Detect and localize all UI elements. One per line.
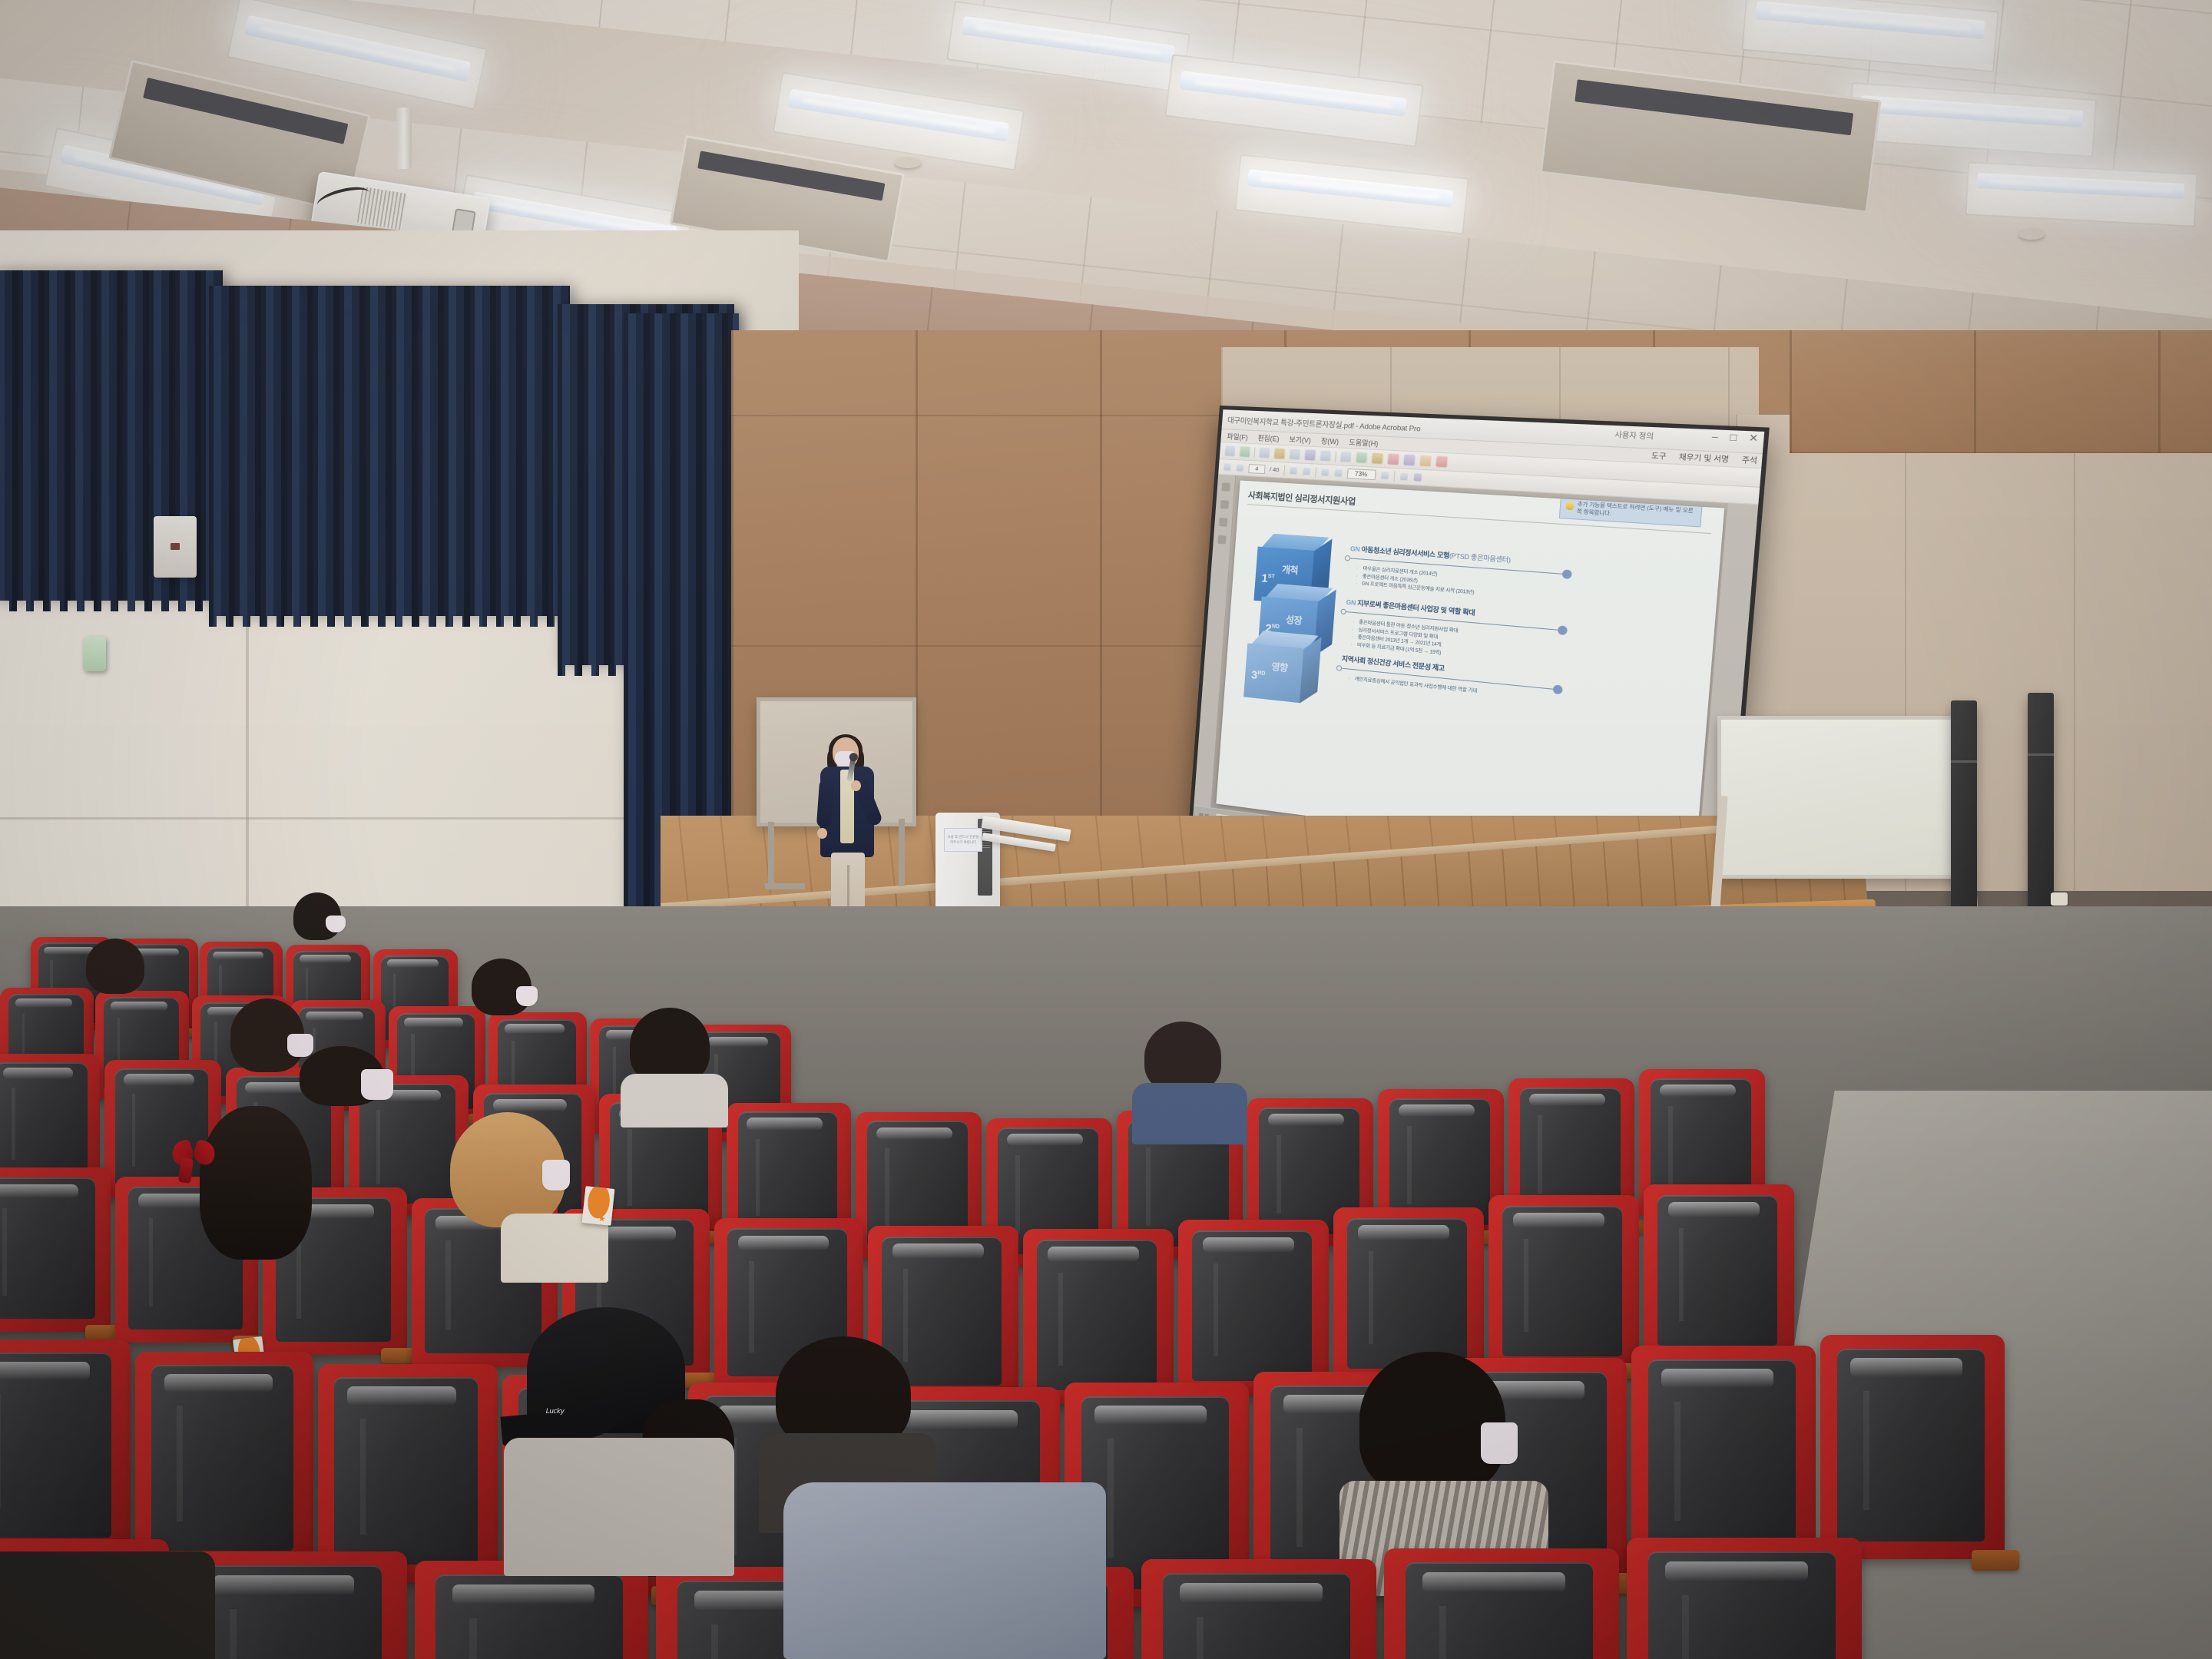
torso bbox=[504, 1438, 734, 1576]
open-file-icon[interactable] bbox=[1224, 445, 1237, 457]
audience-member bbox=[469, 959, 545, 1043]
fit-page-icon[interactable] bbox=[1412, 472, 1422, 482]
torso bbox=[1132, 1083, 1247, 1144]
seat[interactable] bbox=[1820, 1335, 2005, 1559]
menu-window[interactable]: 창(W) bbox=[1321, 435, 1339, 446]
emergency-light bbox=[83, 636, 106, 671]
bookmarks-panel-icon[interactable] bbox=[1220, 500, 1229, 509]
menu-edit[interactable]: 편집(E) bbox=[1257, 432, 1280, 443]
audience-member-legs bbox=[783, 1482, 1106, 1659]
audience-member bbox=[1352, 1352, 1536, 1582]
right-whiteboard bbox=[1717, 716, 1963, 879]
audience-member-with-cap: Lucky bbox=[527, 1307, 734, 1515]
hand-tool-icon[interactable] bbox=[1302, 467, 1311, 476]
seat[interactable] bbox=[1178, 1220, 1329, 1395]
face-mask bbox=[361, 1069, 393, 1100]
torso bbox=[0, 1551, 215, 1659]
menu-file[interactable]: 파일(F) bbox=[1227, 431, 1248, 442]
cube-3-label: 영향 bbox=[1271, 660, 1288, 674]
acrobat-tooltip-text: 추가 기능을 텍스트로 하려면 (도구) 메뉴 밑 오른쪽 항목합니다. bbox=[1577, 502, 1696, 523]
seat[interactable] bbox=[1631, 1346, 1816, 1570]
save-icon[interactable] bbox=[1258, 447, 1270, 459]
signatures-panel-icon[interactable] bbox=[1217, 535, 1226, 545]
av-cart-notice-label: 사용 후 반드시 전원을 꺼주시기 바랍니다 bbox=[944, 828, 982, 852]
presenter bbox=[813, 737, 889, 929]
previous-page-icon[interactable] bbox=[1223, 462, 1231, 472]
slide-step-1: GN 아동청소년 심리정서서비스 모형(PTSD 좋은마음센터) 마우울은 심리… bbox=[1347, 544, 1573, 604]
wall-speaker bbox=[154, 516, 197, 578]
attachments-panel-icon[interactable] bbox=[1219, 518, 1227, 527]
stage-curtain-left-2 bbox=[209, 286, 570, 616]
close-icon[interactable]: ✕ bbox=[1748, 432, 1759, 444]
page-total-label: / 40 bbox=[1270, 465, 1280, 473]
wall-seam bbox=[246, 584, 249, 937]
projector-mount-pole bbox=[396, 108, 412, 169]
comment-icon[interactable] bbox=[1371, 452, 1384, 465]
speaker-led-indicator bbox=[171, 543, 180, 550]
hair bbox=[86, 939, 144, 994]
export-icon[interactable] bbox=[1320, 449, 1332, 462]
long-hair bbox=[200, 1106, 312, 1260]
whiteboard-leg bbox=[768, 822, 774, 889]
red-hair-bow bbox=[172, 1141, 215, 1177]
next-page-icon[interactable] bbox=[1236, 463, 1244, 472]
presenter-right-hand bbox=[851, 780, 861, 791]
window-controls[interactable]: – □ ✕ bbox=[1711, 430, 1759, 444]
highlight-icon[interactable] bbox=[1339, 451, 1352, 463]
face-mask bbox=[542, 1160, 570, 1190]
lightbulb-icon bbox=[1565, 501, 1574, 510]
tab-tools[interactable]: 도구 bbox=[1651, 450, 1667, 462]
audience-member-with-bow bbox=[177, 1106, 323, 1275]
seat[interactable] bbox=[1644, 1184, 1794, 1359]
seat[interactable] bbox=[1488, 1195, 1639, 1370]
smoke-detector-icon bbox=[895, 157, 921, 168]
stacked-cubes-graphic: 1ST 개척 2ND 성장 3RD 영향 bbox=[1235, 531, 1346, 703]
audience-member bbox=[86, 939, 163, 1015]
hair bbox=[630, 1008, 710, 1084]
audience-member bbox=[286, 892, 355, 962]
cube-step-3: 3RD 영향 bbox=[1243, 629, 1322, 707]
tab-fill-and-sign[interactable]: 채우기 및 서명 bbox=[1678, 451, 1729, 464]
whiteboard-foot bbox=[765, 883, 805, 889]
step-3-end-dot bbox=[1553, 684, 1563, 694]
cap-logo-text: Lucky bbox=[546, 1408, 565, 1416]
jeans bbox=[783, 1482, 1106, 1659]
seat[interactable] bbox=[0, 1167, 111, 1332]
audience-member bbox=[1144, 1022, 1244, 1129]
fit-width-icon[interactable] bbox=[1399, 472, 1408, 481]
zoom-out-icon[interactable] bbox=[1320, 468, 1330, 477]
tab-comment[interactable]: 주석 bbox=[1741, 454, 1757, 465]
auditorium-photo: 대구미인복지학교 특강-주민트론자장실.pdf - Adobe Acrobat … bbox=[0, 0, 2212, 1659]
menu-help[interactable]: 도움말(H) bbox=[1349, 436, 1379, 448]
thumbnails-panel-icon[interactable] bbox=[1221, 482, 1230, 492]
acrobat-user-defined-label: 사용자 정의 bbox=[1614, 429, 1654, 441]
step-1-end-dot bbox=[1562, 569, 1572, 579]
smoke-detector-icon bbox=[2018, 229, 2045, 240]
minimize-icon[interactable]: – bbox=[1711, 430, 1718, 442]
maximize-icon[interactable]: □ bbox=[1730, 431, 1737, 443]
seat[interactable] bbox=[1023, 1229, 1174, 1404]
page-thumbnail-icon[interactable] bbox=[1304, 449, 1316, 461]
right-wall-upper bbox=[1790, 330, 2212, 453]
whiteboard-leg bbox=[899, 819, 905, 886]
audience-member bbox=[630, 1008, 730, 1115]
create-pdf-icon[interactable] bbox=[1239, 445, 1251, 458]
sign-icon[interactable] bbox=[1419, 455, 1432, 467]
presenter-left-hand bbox=[817, 828, 827, 839]
cube-1-label: 개척 bbox=[1281, 562, 1298, 577]
sticky-note-icon[interactable] bbox=[1355, 452, 1368, 464]
print-icon[interactable] bbox=[1289, 448, 1301, 460]
edit-pdf-icon[interactable] bbox=[1435, 455, 1449, 469]
email-icon[interactable] bbox=[1273, 447, 1286, 459]
hair bbox=[1144, 1022, 1221, 1092]
audience-member-foreground bbox=[0, 1505, 215, 1659]
face-mask bbox=[1481, 1422, 1518, 1464]
zoom-level-value[interactable]: 73% bbox=[1346, 469, 1376, 480]
attachment-icon[interactable] bbox=[1402, 454, 1416, 466]
wall-power-outlet[interactable] bbox=[2051, 892, 2068, 906]
seat[interactable] bbox=[1141, 1559, 1376, 1659]
face-mask bbox=[326, 916, 346, 932]
audience-member bbox=[300, 1046, 407, 1131]
select-tool-icon[interactable] bbox=[1289, 466, 1298, 475]
cube-2-label: 성장 bbox=[1285, 613, 1302, 628]
slide-content: 사회복지법인 심리정서지원사업 1ST 개척 2ND 성장 bbox=[1216, 481, 1724, 868]
pdf-page: 추가 기능을 텍스트로 하려면 (도구) 메뉴 밑 오른쪽 항목합니다. 사회복… bbox=[1216, 481, 1724, 868]
step-2-end-dot bbox=[1558, 625, 1568, 635]
zoom-in-icon[interactable] bbox=[1333, 469, 1343, 478]
seat[interactable] bbox=[1627, 1538, 1862, 1659]
cube-3-number: 3RD bbox=[1250, 668, 1265, 683]
seat[interactable] bbox=[318, 1364, 498, 1582]
seat[interactable] bbox=[1384, 1548, 1619, 1659]
menu-view[interactable]: 보기(V) bbox=[1289, 434, 1311, 445]
chevron-down-icon[interactable] bbox=[1379, 471, 1389, 480]
stamp-icon[interactable] bbox=[1387, 453, 1400, 465]
audience-member-blonde bbox=[445, 1112, 584, 1258]
torso bbox=[621, 1074, 728, 1128]
torso bbox=[501, 1214, 608, 1283]
face-mask bbox=[516, 986, 538, 1006]
page-number-input[interactable]: 4 bbox=[1248, 464, 1265, 474]
seat-flyer[interactable] bbox=[582, 1186, 615, 1226]
